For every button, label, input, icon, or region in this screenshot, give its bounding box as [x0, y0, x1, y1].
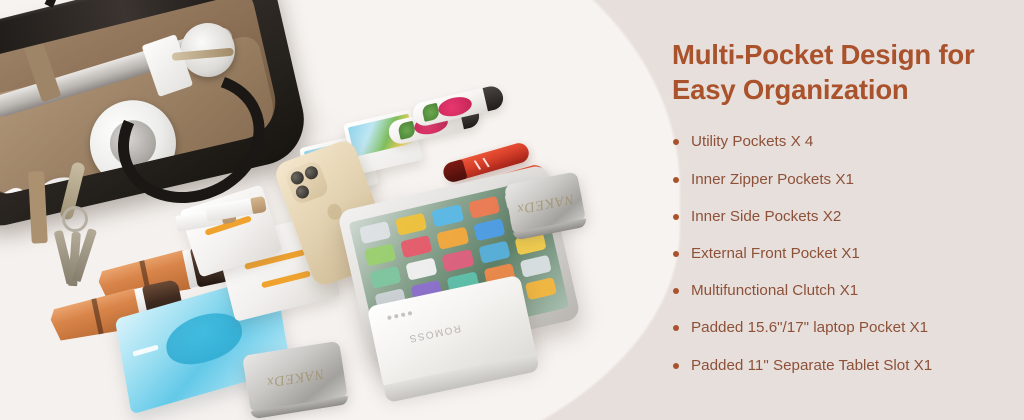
bullet-dot-icon: [673, 177, 679, 183]
tablet-app-icon: [359, 221, 391, 244]
feature-item: External Front Pocket X1: [672, 245, 1024, 263]
feature-label: Inner Side Pockets X2: [691, 208, 841, 225]
bullet-dot-icon: [673, 363, 679, 369]
feature-label: Inner Zipper Pockets X1: [691, 171, 854, 188]
tablet-app-icon: [369, 266, 401, 289]
bullet-dot-icon: [673, 139, 679, 145]
tablet-app-icon: [400, 235, 432, 258]
feature-label: Utility Pockets X 4: [691, 133, 813, 150]
tablet-app-icon: [478, 241, 510, 264]
feature-label: Multifunctional Clutch X1: [691, 282, 858, 299]
feature-item: Utility Pockets X 4: [672, 133, 1024, 151]
tablet-app-icon: [364, 243, 396, 266]
bullet-dot-icon: [673, 288, 679, 294]
tablet-app-icon: [437, 227, 469, 250]
tablet-app-icon: [468, 196, 500, 219]
product-photo: NAKEDx NAKEDx ROMOSS: [0, 0, 660, 420]
feature-item: Padded 11" Separate Tablet Slot X1: [672, 357, 1024, 375]
tin-emboss-text: NAKEDx: [265, 365, 325, 390]
headline-line-2: Easy Organization: [672, 74, 909, 105]
feature-item: Inner Zipper Pockets X1: [672, 171, 1024, 189]
tablet-app-icon: [395, 213, 427, 236]
phone-camera-module: [284, 159, 330, 205]
feature-item: Padded 15.6"/17" laptop Pocket X1: [672, 319, 1024, 337]
tablet-app-icon: [473, 218, 505, 241]
page-title: Multi-Pocket Design for Easy Organizatio…: [672, 38, 1020, 107]
bullet-dot-icon: [673, 214, 679, 220]
bullet-dot-icon: [673, 325, 679, 331]
feature-label: External Front Pocket X1: [691, 245, 860, 262]
feature-label: Padded 15.6"/17" laptop Pocket X1: [691, 319, 928, 336]
promo-banner: NAKEDx NAKEDx ROMOSS Multi-Pocket Design…: [0, 0, 1024, 420]
power-bank-leds: [387, 311, 412, 320]
feature-label: Padded 11" Separate Tablet Slot X1: [691, 357, 932, 374]
tablet-app-icon: [442, 249, 474, 272]
wipes-logo: [133, 345, 159, 357]
text-panel: Multi-Pocket Design for Easy Organizatio…: [672, 0, 1024, 420]
tablet-app-icon: [406, 257, 438, 280]
tablet-app-icon: [525, 277, 557, 300]
tin-emboss-text: NAKEDx: [515, 190, 575, 217]
feature-item: Multifunctional Clutch X1: [672, 282, 1024, 300]
tablet-app-icon: [431, 204, 463, 227]
power-bank-brand: ROMOSS: [407, 322, 462, 344]
headline-line-1: Multi-Pocket Design for: [672, 39, 975, 70]
feature-item: Inner Side Pockets X2: [672, 208, 1024, 226]
bullet-dot-icon: [673, 251, 679, 257]
tablet-app-icon: [520, 255, 552, 278]
feature-list: Utility Pockets X 4Inner Zipper Pockets …: [672, 133, 1024, 375]
key-ring: [62, 206, 88, 232]
